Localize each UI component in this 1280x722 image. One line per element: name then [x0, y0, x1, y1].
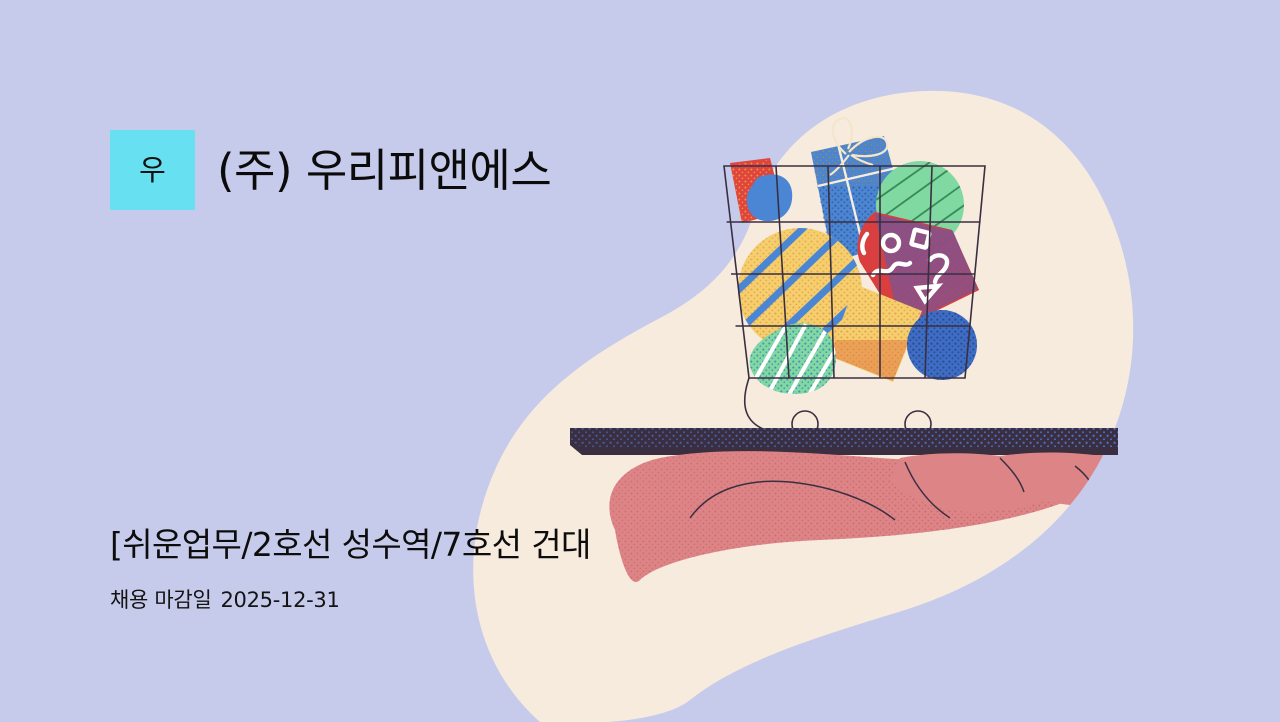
company-name: (주) 우리피앤에스 — [217, 133, 551, 209]
job-posting-card: 우 (주) 우리피앤에스 [쉬운업무/2호선 성수역/7호선 건대 채용 마감일… — [0, 0, 1280, 722]
company-logo-glyph: 우 — [139, 156, 166, 185]
company-logo[interactable]: 우 — [110, 130, 195, 210]
deadline-row: 채용 마감일2025-12-31 — [110, 584, 340, 614]
job-title: [쉬운업무/2호선 성수역/7호선 건대 — [110, 518, 591, 566]
deadline-date: 2025-12-31 — [220, 588, 339, 612]
deadline-label: 채용 마감일 — [110, 588, 211, 612]
text-overlay: 우 (주) 우리피앤에스 [쉬운업무/2호선 성수역/7호선 건대 채용 마감일… — [0, 0, 1280, 722]
